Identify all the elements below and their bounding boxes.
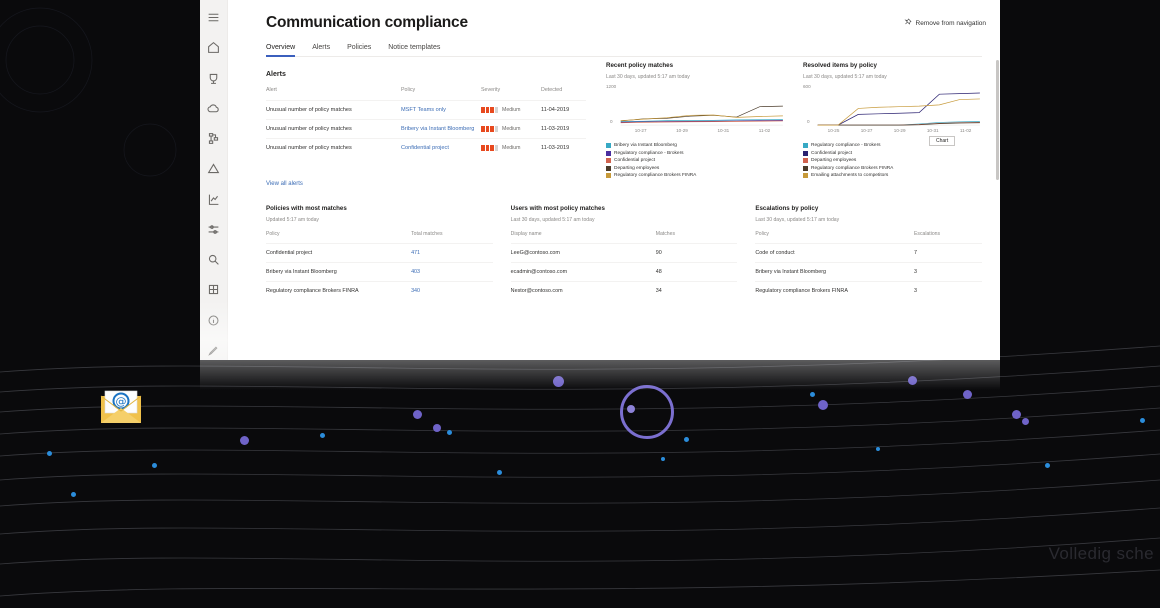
search-icon[interactable] bbox=[201, 250, 227, 269]
panel-subtitle: Last 30 days, updated 5:17 am today bbox=[511, 217, 738, 223]
alert-name: Unusual number of policy matches bbox=[266, 139, 401, 158]
table-row[interactable]: Bribery via Instant Bloomberg 3 bbox=[755, 263, 982, 282]
alerts-col-policy: Policy bbox=[401, 87, 481, 101]
col-escalations: Escalations bbox=[914, 231, 982, 244]
policy-name: Bribery via Instant Bloomberg bbox=[266, 263, 411, 282]
cloud-icon[interactable] bbox=[201, 99, 227, 118]
alerts-col-severity: Severity bbox=[481, 87, 541, 101]
org-chart-icon[interactable] bbox=[201, 129, 227, 148]
bg-dot bbox=[908, 376, 917, 385]
alert-detected: 11-04-2019 bbox=[541, 101, 586, 120]
chart-xticks: 10-27 10-29 10-31 11-02 bbox=[620, 128, 785, 133]
bg-dot bbox=[818, 400, 828, 410]
bg-dot bbox=[240, 436, 249, 445]
severity-label: Medium bbox=[502, 107, 520, 113]
escalations-by-policy-panel: Escalations by policy Last 30 days, upda… bbox=[755, 205, 982, 300]
alert-policy-link[interactable]: Bribery via Instant Bloomberg bbox=[401, 120, 481, 139]
policies-with-most-matches-panel: Policies with most matches Updated 5:17 … bbox=[266, 205, 493, 300]
chart-subtitle: Last 30 days, updated 5:17 am today bbox=[606, 74, 785, 80]
legend-swatch bbox=[606, 151, 611, 156]
legend-swatch bbox=[803, 158, 808, 163]
legend-label: Bribery via Instant Bloomberg bbox=[614, 143, 677, 148]
legend-swatch bbox=[803, 173, 808, 178]
alert-detected: 11-03-2019 bbox=[541, 120, 586, 139]
background-watermark: Volledig sche bbox=[1049, 544, 1154, 564]
header-row: Policy Escalations bbox=[755, 231, 982, 244]
user-matches: 34 bbox=[656, 282, 738, 301]
col-policy: Policy bbox=[755, 231, 914, 244]
escalations-table: Policy Escalations Code of conduct 7 Bri… bbox=[755, 231, 982, 300]
alert-triangle-icon[interactable] bbox=[201, 159, 227, 178]
pin-icon bbox=[904, 18, 912, 28]
bg-dot bbox=[1022, 418, 1029, 425]
legend-swatch bbox=[606, 158, 611, 163]
escalation-count: 3 bbox=[914, 263, 982, 282]
severity-blocks bbox=[481, 107, 498, 113]
hamburger-menu-icon[interactable] bbox=[201, 8, 227, 27]
legend-label: Confidential project bbox=[614, 158, 655, 163]
tab-alerts[interactable]: Alerts bbox=[312, 44, 330, 56]
charts-row: Recent policy matches Last 30 days, upda… bbox=[606, 62, 982, 178]
xtick: 10-27 bbox=[861, 128, 873, 133]
bg-dot bbox=[413, 410, 422, 419]
col-matches: Matches bbox=[656, 231, 738, 244]
alert-name: Unusual number of policy matches bbox=[266, 101, 401, 120]
chart-tooltip: Chart bbox=[929, 136, 955, 146]
chart-ymax-label: 1200 bbox=[606, 84, 616, 89]
bg-dot-small bbox=[320, 433, 325, 438]
legend-swatch bbox=[803, 166, 808, 171]
table-row[interactable]: Unusual number of policy matches Confide… bbox=[266, 139, 586, 158]
bg-dot-small bbox=[661, 457, 665, 461]
severity-label: Medium bbox=[502, 126, 520, 132]
panel-subtitle: Updated 5:17 am today bbox=[266, 217, 493, 223]
table-row[interactable]: Regulatory compliance Brokers FINRA 340 bbox=[266, 282, 493, 301]
table-row[interactable]: Nestor@contoso.com 34 bbox=[511, 282, 738, 301]
bg-dot-small bbox=[876, 447, 880, 451]
xtick: 10-25 bbox=[828, 128, 840, 133]
xtick: 10-27 bbox=[635, 128, 647, 133]
table-row[interactable]: Code of conduct 7 bbox=[755, 244, 982, 263]
escalation-count: 7 bbox=[914, 244, 982, 263]
alerts-table: Alert Policy Severity Detected Unusual n… bbox=[266, 87, 586, 157]
legend-item[interactable]: Regulatory compliance Brokers FINRA bbox=[803, 166, 982, 171]
shield-icon[interactable] bbox=[201, 69, 227, 88]
panel-title: Users with most policy matches bbox=[511, 205, 738, 212]
users-table: Display name Matches LeeG@contoso.com 90… bbox=[511, 231, 738, 300]
chart-legend: Regulatory compliance - Brokers Confiden… bbox=[803, 143, 982, 178]
chart-xticks: 10-25 10-27 10-29 10-31 11-02 bbox=[817, 128, 982, 133]
legend-label: Regulatory compliance - Brokers bbox=[614, 151, 684, 156]
legend-item[interactable]: Emailing attachments to competitors bbox=[803, 173, 982, 178]
legend-item[interactable]: Confidential project bbox=[803, 151, 982, 156]
alert-severity: Medium bbox=[481, 120, 541, 139]
policy-name: Regulatory compliance Brokers FINRA bbox=[266, 282, 411, 301]
severity-label: Medium bbox=[502, 145, 520, 151]
panel-subtitle: Last 30 days, updated 5:17 am today bbox=[755, 217, 982, 223]
left-nav-rail[interactable] bbox=[200, 0, 228, 360]
legend-swatch bbox=[803, 143, 808, 148]
bg-dot-small bbox=[684, 437, 689, 442]
alerts-header-row: Alert Policy Severity Detected bbox=[266, 87, 586, 101]
users-with-most-matches-panel: Users with most policy matches Last 30 d… bbox=[511, 205, 738, 300]
legend-label: Departing employees bbox=[614, 166, 659, 171]
bg-dot-small bbox=[71, 492, 76, 497]
tab-notice-templates[interactable]: Notice templates bbox=[388, 44, 440, 56]
chart-subtitle: Last 30 days, updated 5:17 am today bbox=[803, 74, 982, 80]
alerts-col-detected: Detected bbox=[541, 87, 586, 101]
table-row[interactable]: Confidential project 471 bbox=[266, 244, 493, 263]
alert-severity: Medium bbox=[481, 139, 541, 158]
table-row[interactable]: Bribery via Instant Bloomberg 403 bbox=[266, 263, 493, 282]
legend-label: Regulatory compliance Brokers FINRA bbox=[614, 173, 696, 178]
bg-dot-small bbox=[152, 463, 157, 468]
main-content: Remove from navigation Communication com… bbox=[228, 0, 1000, 360]
escalation-policy: Bribery via Instant Bloomberg bbox=[755, 263, 914, 282]
chart-icon[interactable] bbox=[201, 190, 227, 209]
chart-plot-area[interactable]: 1200 0 10-27 10-29 10-31 11-02 bbox=[606, 86, 785, 132]
chart-lines bbox=[606, 86, 785, 132]
home-icon[interactable] bbox=[201, 38, 227, 57]
bg-dot-small bbox=[1140, 418, 1145, 423]
severity-blocks bbox=[481, 145, 498, 151]
email-envelope-icon: @ bbox=[100, 390, 142, 424]
alert-policy-link[interactable]: Confidential project bbox=[401, 139, 481, 158]
legend-item[interactable]: Regulatory compliance Brokers FINRA bbox=[606, 173, 785, 178]
xtick: 10-29 bbox=[676, 128, 688, 133]
xtick: 10-29 bbox=[894, 128, 906, 133]
legend-item[interactable]: Regulatory compliance - Brokers bbox=[606, 151, 785, 156]
bg-dot-small bbox=[1045, 463, 1050, 468]
user-name: Nestor@contoso.com bbox=[511, 282, 656, 301]
page-title: Communication compliance bbox=[266, 14, 982, 32]
legend-swatch bbox=[606, 173, 611, 178]
table-row[interactable]: Unusual number of policy matches MSFT Te… bbox=[266, 101, 586, 120]
xtick: 11-02 bbox=[960, 128, 971, 133]
panel-title: Policies with most matches bbox=[266, 205, 493, 212]
legend-label: Confidential project bbox=[811, 151, 852, 156]
app-window: Remove from navigation Communication com… bbox=[200, 0, 1000, 360]
bg-dot bbox=[1012, 410, 1021, 419]
table-row[interactable]: ecadmin@contoso.com 48 bbox=[511, 263, 738, 282]
legend-item[interactable]: Departing employees bbox=[803, 158, 982, 163]
tab-bar[interactable]: Overview Alerts Policies Notice template… bbox=[266, 44, 982, 57]
legend-swatch bbox=[606, 166, 611, 171]
policy-name: Confidential project bbox=[266, 244, 411, 263]
header-row: Display name Matches bbox=[511, 231, 738, 244]
bg-dot-small bbox=[497, 470, 502, 475]
alert-detected: 11-03-2019 bbox=[541, 139, 586, 158]
tab-overview[interactable]: Overview bbox=[266, 44, 295, 56]
legend-label: Departing employees bbox=[811, 158, 856, 163]
legend-label: Emailing attachments to competitors bbox=[811, 173, 888, 178]
escalation-count: 3 bbox=[914, 282, 982, 301]
col-total-matches: Total matches bbox=[411, 231, 493, 244]
grid-icon[interactable] bbox=[201, 280, 227, 299]
scrollbar-thumb[interactable] bbox=[996, 60, 999, 180]
policies-table: Policy Total matches Confidential projec… bbox=[266, 231, 493, 300]
severity-blocks bbox=[481, 126, 498, 132]
legend-item[interactable]: Confidential project bbox=[606, 158, 785, 163]
policy-matches[interactable]: 471 bbox=[411, 244, 493, 263]
table-row[interactable]: Regulatory compliance Brokers FINRA 3 bbox=[755, 282, 982, 301]
purple-ring-marker bbox=[620, 385, 674, 439]
legend-label: Regulatory compliance Brokers FINRA bbox=[811, 166, 893, 171]
alert-name: Unusual number of policy matches bbox=[266, 120, 401, 139]
svg-text:@: @ bbox=[116, 395, 127, 408]
chart-title: Recent policy matches bbox=[606, 62, 785, 69]
chart-ymax-label: 600 bbox=[803, 84, 811, 89]
view-all-alerts-link[interactable]: View all alerts bbox=[266, 181, 303, 187]
chart-yzero-label: 0 bbox=[610, 119, 613, 124]
recent-policy-matches-panel: Recent policy matches Last 30 days, upda… bbox=[606, 62, 785, 178]
legend-label: Regulatory compliance - Brokers bbox=[811, 143, 881, 148]
policy-matches[interactable]: 403 bbox=[411, 263, 493, 282]
panel-title: Escalations by policy bbox=[755, 205, 982, 212]
col-display-name: Display name bbox=[511, 231, 656, 244]
legend-swatch bbox=[606, 143, 611, 148]
bottom-panels-row: Policies with most matches Updated 5:17 … bbox=[266, 205, 982, 300]
xtick: 11-02 bbox=[759, 128, 770, 133]
bg-dot-small bbox=[47, 451, 52, 456]
legend-swatch bbox=[803, 151, 808, 156]
tab-policies[interactable]: Policies bbox=[347, 44, 371, 56]
xtick: 10-31 bbox=[717, 128, 729, 133]
bg-dot-small bbox=[810, 392, 815, 397]
chart-lines bbox=[803, 86, 982, 132]
alerts-col-alert: Alert bbox=[266, 87, 401, 101]
escalation-policy: Regulatory compliance Brokers FINRA bbox=[755, 282, 914, 301]
remove-from-navigation-label: Remove from navigation bbox=[916, 20, 986, 27]
chart-legend: Bribery via Instant Bloomberg Regulatory… bbox=[606, 143, 785, 178]
xtick: 10-31 bbox=[927, 128, 939, 133]
bg-dot bbox=[963, 390, 972, 399]
chart-title: Resolved items by policy bbox=[803, 62, 982, 69]
table-row[interactable]: LeeG@contoso.com 90 bbox=[511, 244, 738, 263]
info-icon[interactable] bbox=[201, 311, 227, 330]
user-name: ecadmin@contoso.com bbox=[511, 263, 656, 282]
bg-dot bbox=[553, 376, 564, 387]
sliders-icon[interactable] bbox=[201, 220, 227, 239]
bg-dot bbox=[433, 424, 441, 432]
alert-policy-link[interactable]: MSFT Teams only bbox=[401, 101, 481, 120]
chart-yzero-label: 0 bbox=[807, 119, 810, 124]
remove-from-navigation-button[interactable]: Remove from navigation bbox=[904, 18, 986, 28]
legend-item[interactable]: Departing employees bbox=[606, 166, 785, 171]
alert-severity: Medium bbox=[481, 101, 541, 120]
resolved-items-panel: Resolved items by policy Last 30 days, u… bbox=[803, 62, 982, 178]
user-name: LeeG@contoso.com bbox=[511, 244, 656, 263]
user-matches: 90 bbox=[656, 244, 738, 263]
header-row: Policy Total matches bbox=[266, 231, 493, 244]
user-matches: 48 bbox=[656, 263, 738, 282]
pencil-icon[interactable] bbox=[201, 341, 227, 360]
chart-plot-area[interactable]: 600 0 10-25 10-27 10-29 10-31 11-02 Char… bbox=[803, 86, 982, 132]
legend-item[interactable]: Bribery via Instant Bloomberg bbox=[606, 143, 785, 148]
table-row[interactable]: Unusual number of policy matches Bribery… bbox=[266, 120, 586, 139]
escalation-policy: Code of conduct bbox=[755, 244, 914, 263]
bg-dot-small bbox=[447, 430, 452, 435]
policy-matches[interactable]: 340 bbox=[411, 282, 493, 301]
col-policy: Policy bbox=[266, 231, 411, 244]
